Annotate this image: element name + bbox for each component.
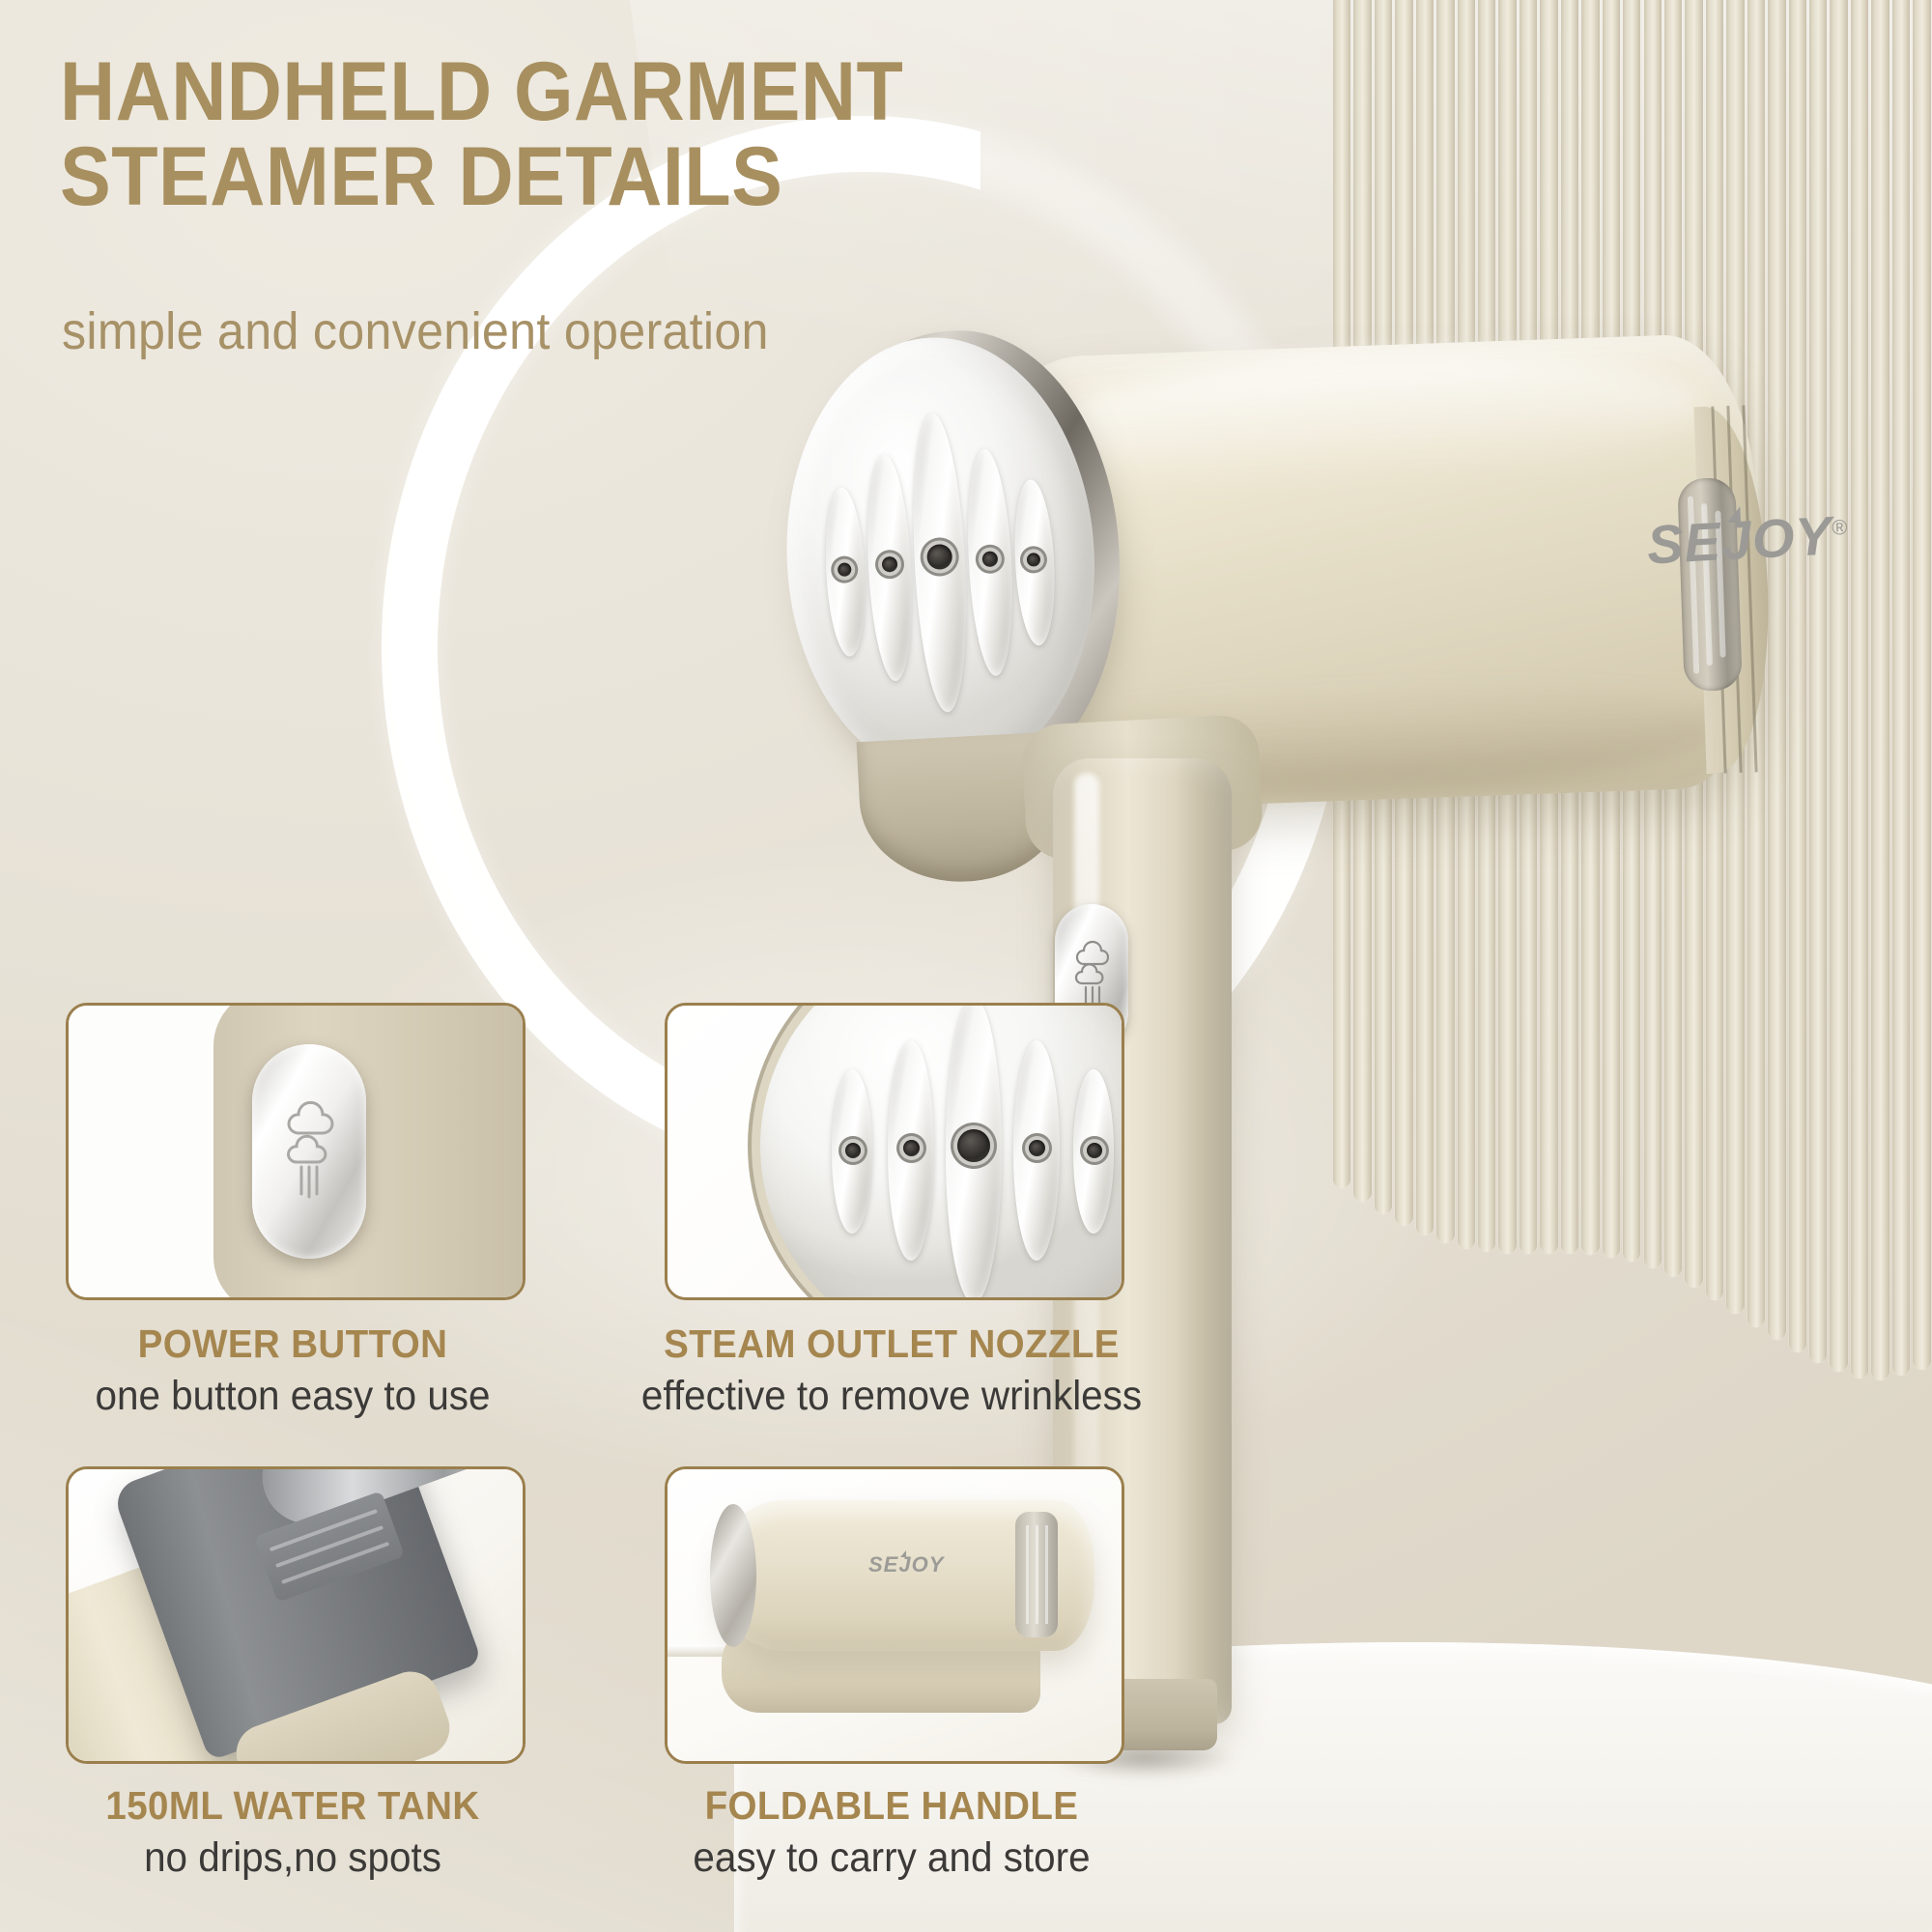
caption-heading: 150ML WATER TANK bbox=[79, 1783, 506, 1829]
rear-vent-grille bbox=[1015, 1512, 1058, 1637]
caption-description: one button easy to use bbox=[79, 1373, 506, 1420]
brand-logo: SEJOY bbox=[868, 1552, 944, 1577]
brand-logo-text: SEJOY bbox=[868, 1552, 944, 1577]
caption-water-tank: 150ML WATER TANK no drips,no spots bbox=[66, 1783, 520, 1882]
steam-hole bbox=[845, 1143, 861, 1158]
infographic-canvas: HANDHELD GARMENT STEAMER DETAILS simple … bbox=[0, 0, 1932, 1932]
feature-card-water-tank[interactable] bbox=[66, 1466, 526, 1764]
steam-hole bbox=[1087, 1143, 1102, 1158]
caption-description: easy to carry and store bbox=[678, 1834, 1105, 1882]
caption-steam-nozzle: STEAM OUTLET NOZZLE effective to remove … bbox=[597, 1321, 1186, 1420]
steam-hole bbox=[903, 1140, 920, 1156]
caption-power-button: POWER BUTTON one button easy to use bbox=[66, 1321, 520, 1420]
power-button[interactable] bbox=[252, 1044, 366, 1259]
feature-card-foldable-handle[interactable]: SEJOY bbox=[665, 1466, 1124, 1764]
nozzle-edge bbox=[710, 1504, 756, 1647]
caption-heading: POWER BUTTON bbox=[79, 1321, 506, 1367]
feature-card-power-button[interactable] bbox=[66, 1003, 526, 1300]
nozzle-plate-icon bbox=[760, 1003, 1124, 1300]
feature-card-steam-nozzle[interactable] bbox=[665, 1003, 1124, 1300]
caption-description: effective to remove wrinkless bbox=[614, 1373, 1168, 1420]
caption-heading: STEAM OUTLET NOZZLE bbox=[614, 1321, 1168, 1367]
steam-hole bbox=[1029, 1140, 1045, 1156]
caption-description: no drips,no spots bbox=[79, 1834, 506, 1882]
steam-cloud-icon bbox=[281, 1094, 337, 1210]
steam-hole-main bbox=[957, 1129, 990, 1162]
card-left-panel bbox=[69, 1006, 223, 1297]
caption-foldable-handle: FOLDABLE HANDLE easy to carry and store bbox=[665, 1783, 1119, 1882]
caption-heading: FOLDABLE HANDLE bbox=[678, 1783, 1105, 1829]
feature-cards: POWER BUTTON one button easy to use STEA… bbox=[0, 0, 1932, 1932]
